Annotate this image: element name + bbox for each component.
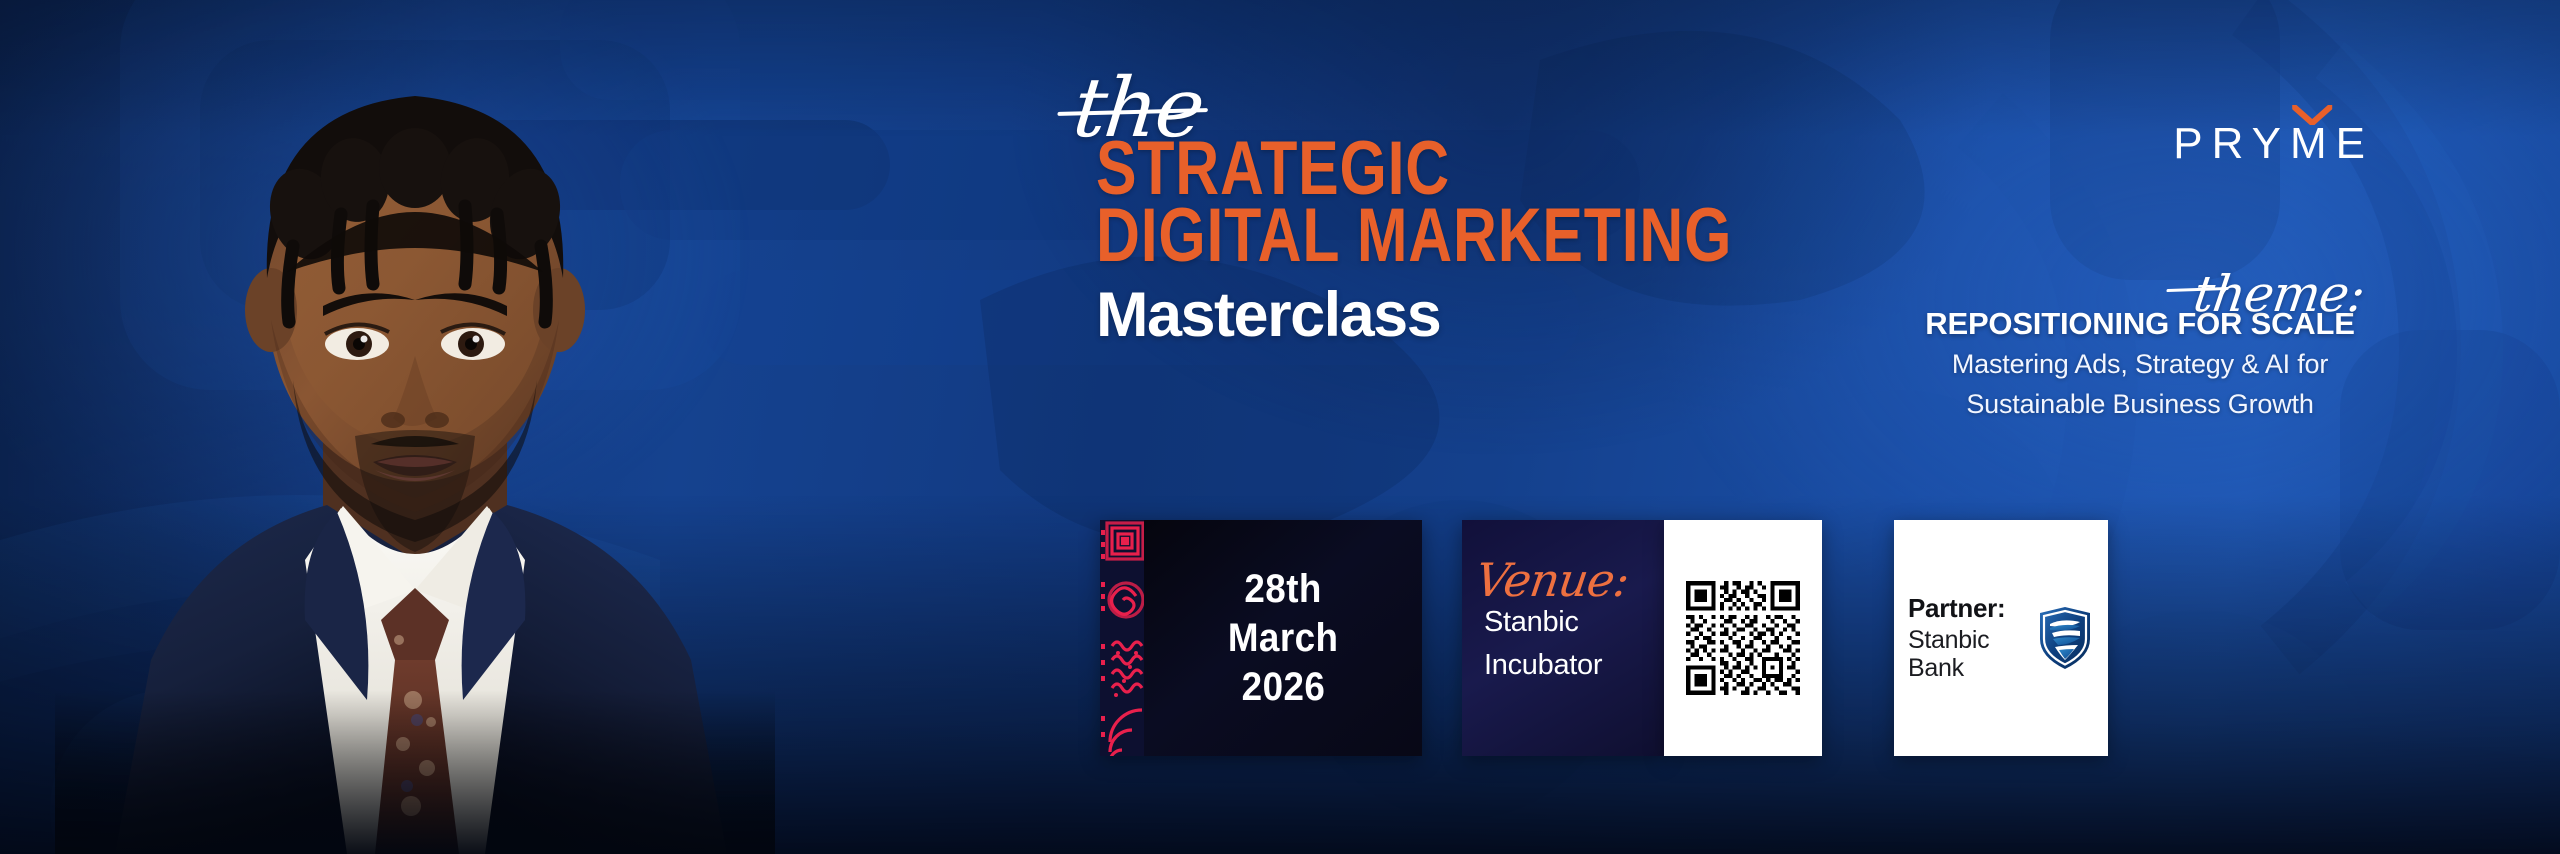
pryme-logo[interactable]: PRY M E — [2173, 122, 2374, 166]
info-card-row: 28th March 2026 Venue: Stanbic Incubator — [1100, 520, 2108, 756]
venue-card: Venue: Stanbic Incubator — [1462, 520, 1664, 756]
date-card-body: 28th March 2026 — [1144, 520, 1422, 756]
theme-script-label: theme: — [1897, 276, 2382, 312]
headline-line-2: DIGITAL MARKETING — [1096, 203, 1592, 268]
theme-subtitle-line-2: Sustainable Business Growth — [1900, 387, 2380, 422]
event-banner: the STRATEGIC DIGITAL MARKETING Mastercl… — [0, 0, 2560, 854]
chevron-down-icon — [2292, 105, 2332, 125]
theme-block: theme: REPOSITIONING FOR SCALE Mastering… — [1900, 276, 2380, 422]
headline-line-1: STRATEGIC — [1096, 136, 1592, 201]
date-card: 28th March 2026 — [1100, 520, 1422, 756]
date-day: 28th — [1244, 569, 1322, 609]
pryme-logo-letter-m: M — [2290, 122, 2336, 166]
partner-card: Partner: Stanbic Bank — [1894, 520, 2108, 756]
speaker-portrait — [55, 0, 775, 854]
theme-subtitle-line-1: Mastering Ads, Strategy & AI for — [1900, 347, 2380, 382]
venue-name-line-1: Stanbic — [1484, 605, 1664, 640]
headline-block: the STRATEGIC DIGITAL MARKETING Mastercl… — [1096, 76, 1716, 347]
pryme-logo-text: PRY M E — [2173, 122, 2374, 166]
african-pattern-strip-icon — [1100, 520, 1144, 756]
venue-name-line-2: Incubator — [1484, 648, 1664, 683]
qr-code-card[interactable] — [1664, 520, 1822, 756]
venue-script-label: Venue: — [1474, 564, 1664, 597]
stanbic-shield-logo — [2036, 605, 2094, 671]
pryme-logo-letters-after: E — [2336, 122, 2374, 166]
date-month: March — [1228, 618, 1339, 658]
partner-text-block: Partner: Stanbic Bank — [1908, 594, 2027, 682]
headline-line-3: Masterclass — [1096, 284, 1716, 347]
partner-name: Stanbic Bank — [1908, 626, 2027, 682]
pryme-logo-letter-m-text: M — [2290, 119, 2336, 168]
partner-label: Partner: — [1908, 594, 2027, 623]
qr-code-icon[interactable] — [1682, 577, 1804, 699]
date-year: 2026 — [1241, 667, 1325, 707]
pryme-logo-letters-before: PRY — [2173, 122, 2290, 166]
